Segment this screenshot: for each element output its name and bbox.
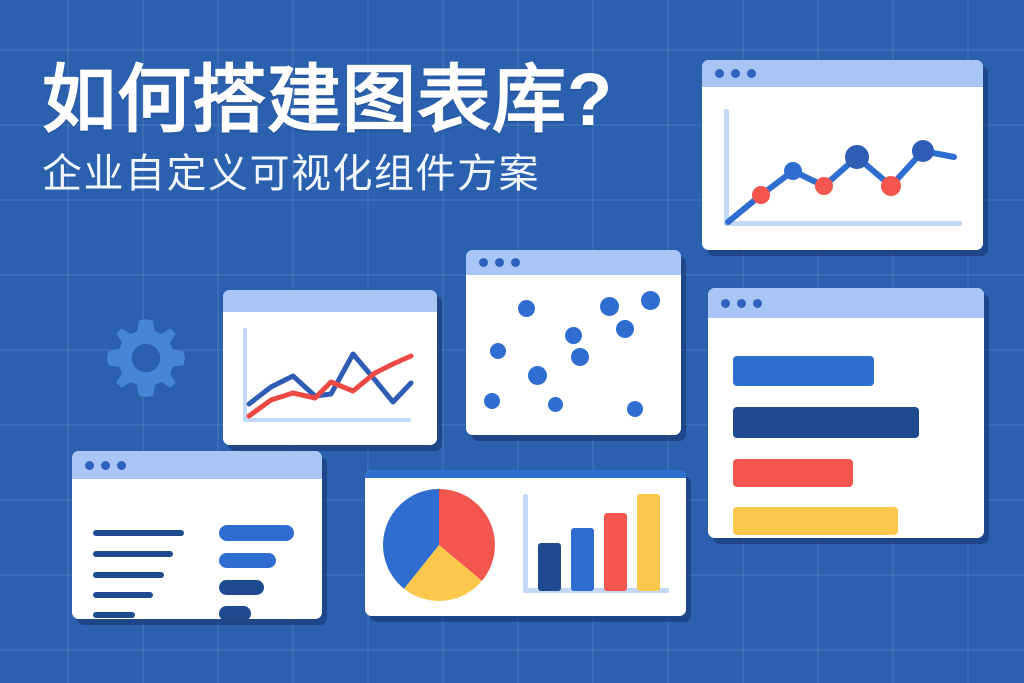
scatter-point [528, 366, 547, 385]
chip [219, 553, 276, 568]
scatter-point [490, 343, 506, 359]
chip [219, 525, 294, 541]
pie-chart [377, 481, 517, 613]
document-window[interactable] [72, 451, 322, 619]
scatter-chart-canvas [466, 275, 681, 435]
bar [733, 459, 853, 487]
chip [219, 606, 251, 619]
pie-bar-canvas [365, 478, 686, 616]
horizontal-bar-chart-canvas [708, 318, 984, 538]
window-dots [72, 461, 126, 470]
document-canvas [72, 479, 322, 619]
window-dots [702, 69, 756, 78]
bar [733, 507, 898, 535]
gear-icon [104, 314, 188, 398]
text-line [93, 551, 173, 557]
scatter-point [518, 300, 535, 317]
text-line [93, 592, 153, 598]
window-titlebar [702, 60, 983, 87]
scatter-point [548, 397, 563, 412]
window-dot-icon [753, 299, 762, 308]
window-titlebar [708, 288, 984, 318]
window-titlebar [365, 470, 686, 478]
window-dot-icon [747, 69, 756, 78]
scatter-chart-window[interactable] [466, 250, 681, 435]
pie-bar-window[interactable] [365, 470, 686, 616]
dual-line-chart-window[interactable] [223, 290, 437, 445]
window-dot-icon [495, 258, 504, 267]
bar [571, 528, 594, 591]
window-dot-icon [721, 299, 730, 308]
scatter-point [565, 327, 582, 344]
y-axis [523, 494, 528, 593]
window-dot-icon [715, 69, 724, 78]
bar [538, 543, 561, 591]
text-line [93, 530, 184, 536]
scatter-point [484, 393, 500, 409]
bar [733, 356, 874, 386]
horizontal-bar-chart-window[interactable] [708, 288, 984, 538]
window-dots [708, 299, 762, 308]
chip [219, 580, 264, 595]
window-dot-icon [85, 461, 94, 470]
scatter-point [627, 401, 643, 417]
scatter-point [616, 320, 634, 338]
window-dot-icon [737, 299, 746, 308]
window-titlebar [466, 250, 681, 275]
line-chart-window[interactable] [702, 60, 983, 250]
window-dot-icon [117, 461, 126, 470]
page-title: 如何搭建图表库? [42, 62, 682, 139]
window-dot-icon [101, 461, 110, 470]
poster-canvas: 如何搭建图表库? 企业自定义可视化组件方案 [0, 0, 1024, 683]
text-line [93, 572, 164, 578]
scatter-point [600, 297, 619, 316]
bar [733, 407, 919, 438]
bar [637, 494, 660, 591]
page-subtitle: 企业自定义可视化组件方案 [42, 151, 682, 198]
scatter-point [571, 348, 589, 366]
hero-text-block: 如何搭建图表库? 企业自定义可视化组件方案 [42, 62, 682, 198]
bar [604, 513, 627, 591]
scatter-point [641, 291, 660, 310]
dual-line-chart-canvas [223, 312, 437, 445]
text-line [93, 612, 135, 618]
window-dots [466, 258, 520, 267]
window-dot-icon [731, 69, 740, 78]
window-titlebar [223, 290, 437, 312]
window-dot-icon [479, 258, 488, 267]
line-chart-canvas [702, 87, 983, 250]
window-titlebar [72, 451, 322, 479]
window-dot-icon [511, 258, 520, 267]
